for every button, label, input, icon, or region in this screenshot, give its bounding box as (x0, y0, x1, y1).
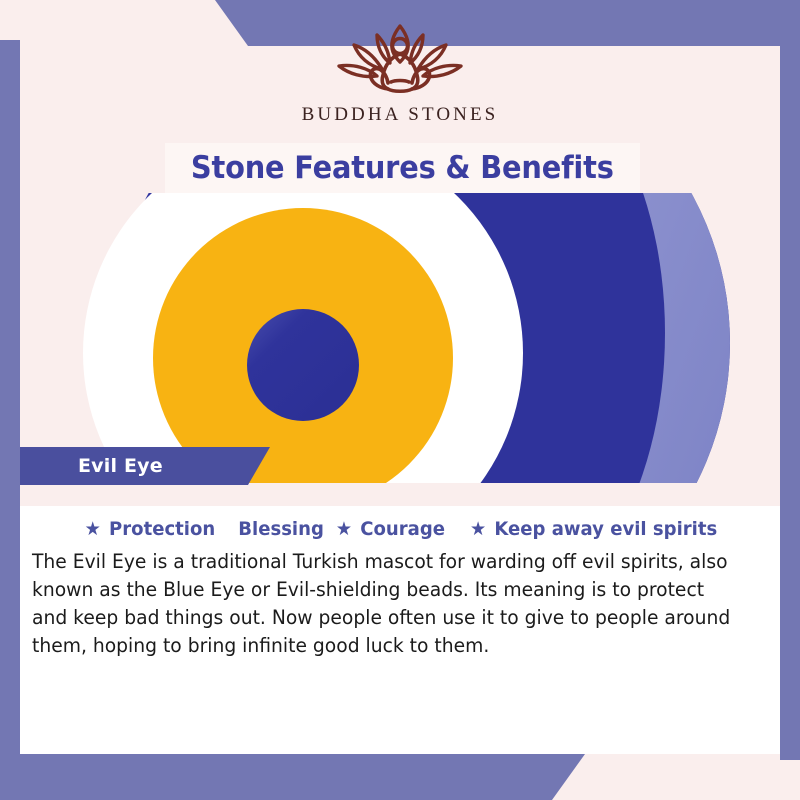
benefits-list: ★ Protection Blessing ★ Courage ★ Keep a… (39, 518, 761, 540)
lotus-meditation-figure-icon (325, 18, 475, 102)
stone-name-label: Evil Eye (78, 455, 163, 477)
page-title-banner: Stone Features & Benefits (165, 143, 640, 193)
star-icon: ★ (85, 518, 101, 540)
info-card: ★ Protection Blessing ★ Courage ★ Keep a… (20, 506, 780, 754)
corner-frame-bottom-left-vertical (0, 40, 20, 800)
stone-name-ribbon: Evil Eye (20, 447, 270, 485)
star-icon: ★ (336, 518, 352, 540)
benefit-item-blessing: Blessing (238, 518, 324, 540)
benefit-item-keep-away-evil-spirits: Keep away evil spirits (494, 518, 717, 540)
description-paragraph: The Evil Eye is a traditional Turkish ma… (32, 548, 739, 660)
benefit-item-courage: Courage (360, 518, 445, 540)
benefit-item-protection: Protection (109, 518, 215, 540)
page-title: Stone Features & Benefits (191, 150, 614, 186)
brand-wordmark: BUDDHA STONES (0, 104, 800, 126)
corner-frame-bottom-left-horizontal (0, 754, 800, 800)
poster-canvas: BUDDHA STONES (0, 0, 800, 800)
star-icon: ★ (470, 518, 486, 540)
evil-eye-amulet-graphic (20, 193, 780, 483)
brand-logo: BUDDHA STONES (0, 18, 800, 126)
